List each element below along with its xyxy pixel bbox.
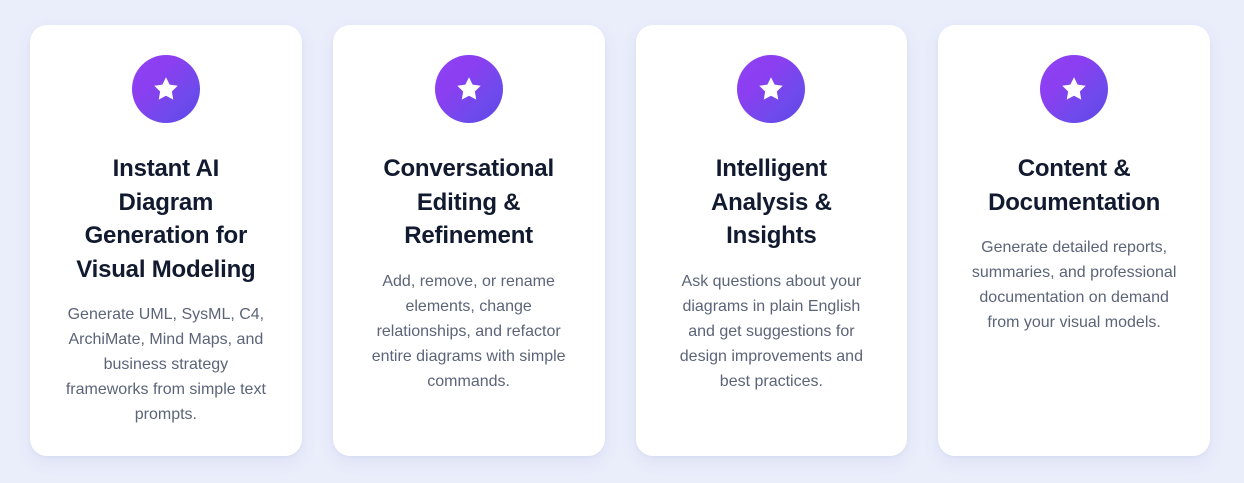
feature-cards-section: Instant AI Diagram Generation for Visual…	[0, 0, 1244, 483]
feature-card-description: Ask questions about your diagrams in pla…	[670, 269, 872, 394]
star-icon	[1040, 55, 1108, 123]
feature-card-title: Instant AI Diagram Generation for Visual…	[76, 152, 256, 286]
feature-card-description: Add, remove, or rename elements, change …	[363, 269, 575, 394]
feature-card-title: Conversational Editing & Refinement	[374, 152, 564, 253]
feature-card-description: Generate UML, SysML, C4, ArchiMate, Mind…	[63, 302, 269, 427]
feature-card[interactable]: Instant AI Diagram Generation for Visual…	[30, 25, 302, 456]
feature-card-title: Intelligent Analysis & Insights	[691, 152, 851, 253]
star-icon	[435, 55, 503, 123]
star-icon	[132, 55, 200, 123]
feature-card-title: Content & Documentation	[974, 152, 1174, 219]
feature-card[interactable]: Content & Documentation Generate detaile…	[938, 25, 1210, 456]
feature-card-description: Generate detailed reports, summaries, an…	[972, 235, 1177, 335]
feature-card[interactable]: Intelligent Analysis & Insights Ask ques…	[636, 25, 908, 456]
feature-card[interactable]: Conversational Editing & Refinement Add,…	[333, 25, 605, 456]
star-icon	[737, 55, 805, 123]
